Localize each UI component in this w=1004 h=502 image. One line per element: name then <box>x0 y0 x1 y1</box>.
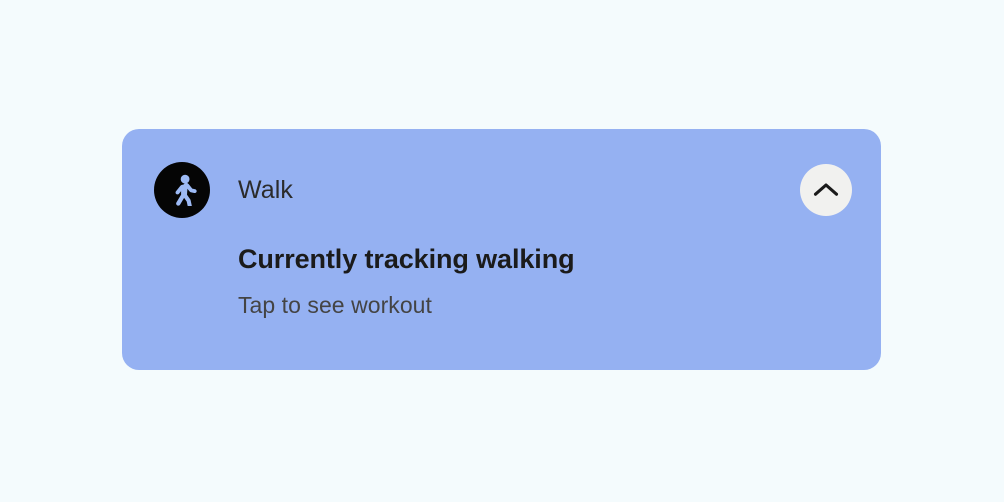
page-background: { "theme": { "page_background": "#f4fbfd… <box>0 0 1004 502</box>
card-header: Walk <box>122 129 881 251</box>
status-subtitle[interactable]: Tap to see workout <box>238 290 574 320</box>
workout-tracking-card[interactable]: Walk Currently tracking walking Tap to s… <box>122 129 881 370</box>
chevron-up-icon <box>813 182 839 198</box>
card-body: Currently tracking walking Tap to see wo… <box>238 241 574 320</box>
status-title: Currently tracking walking <box>238 241 574 277</box>
collapse-button[interactable] <box>800 164 852 216</box>
activity-name-label: Walk <box>238 162 293 218</box>
walking-person-icon <box>167 174 197 206</box>
activity-icon-badge <box>154 162 210 218</box>
